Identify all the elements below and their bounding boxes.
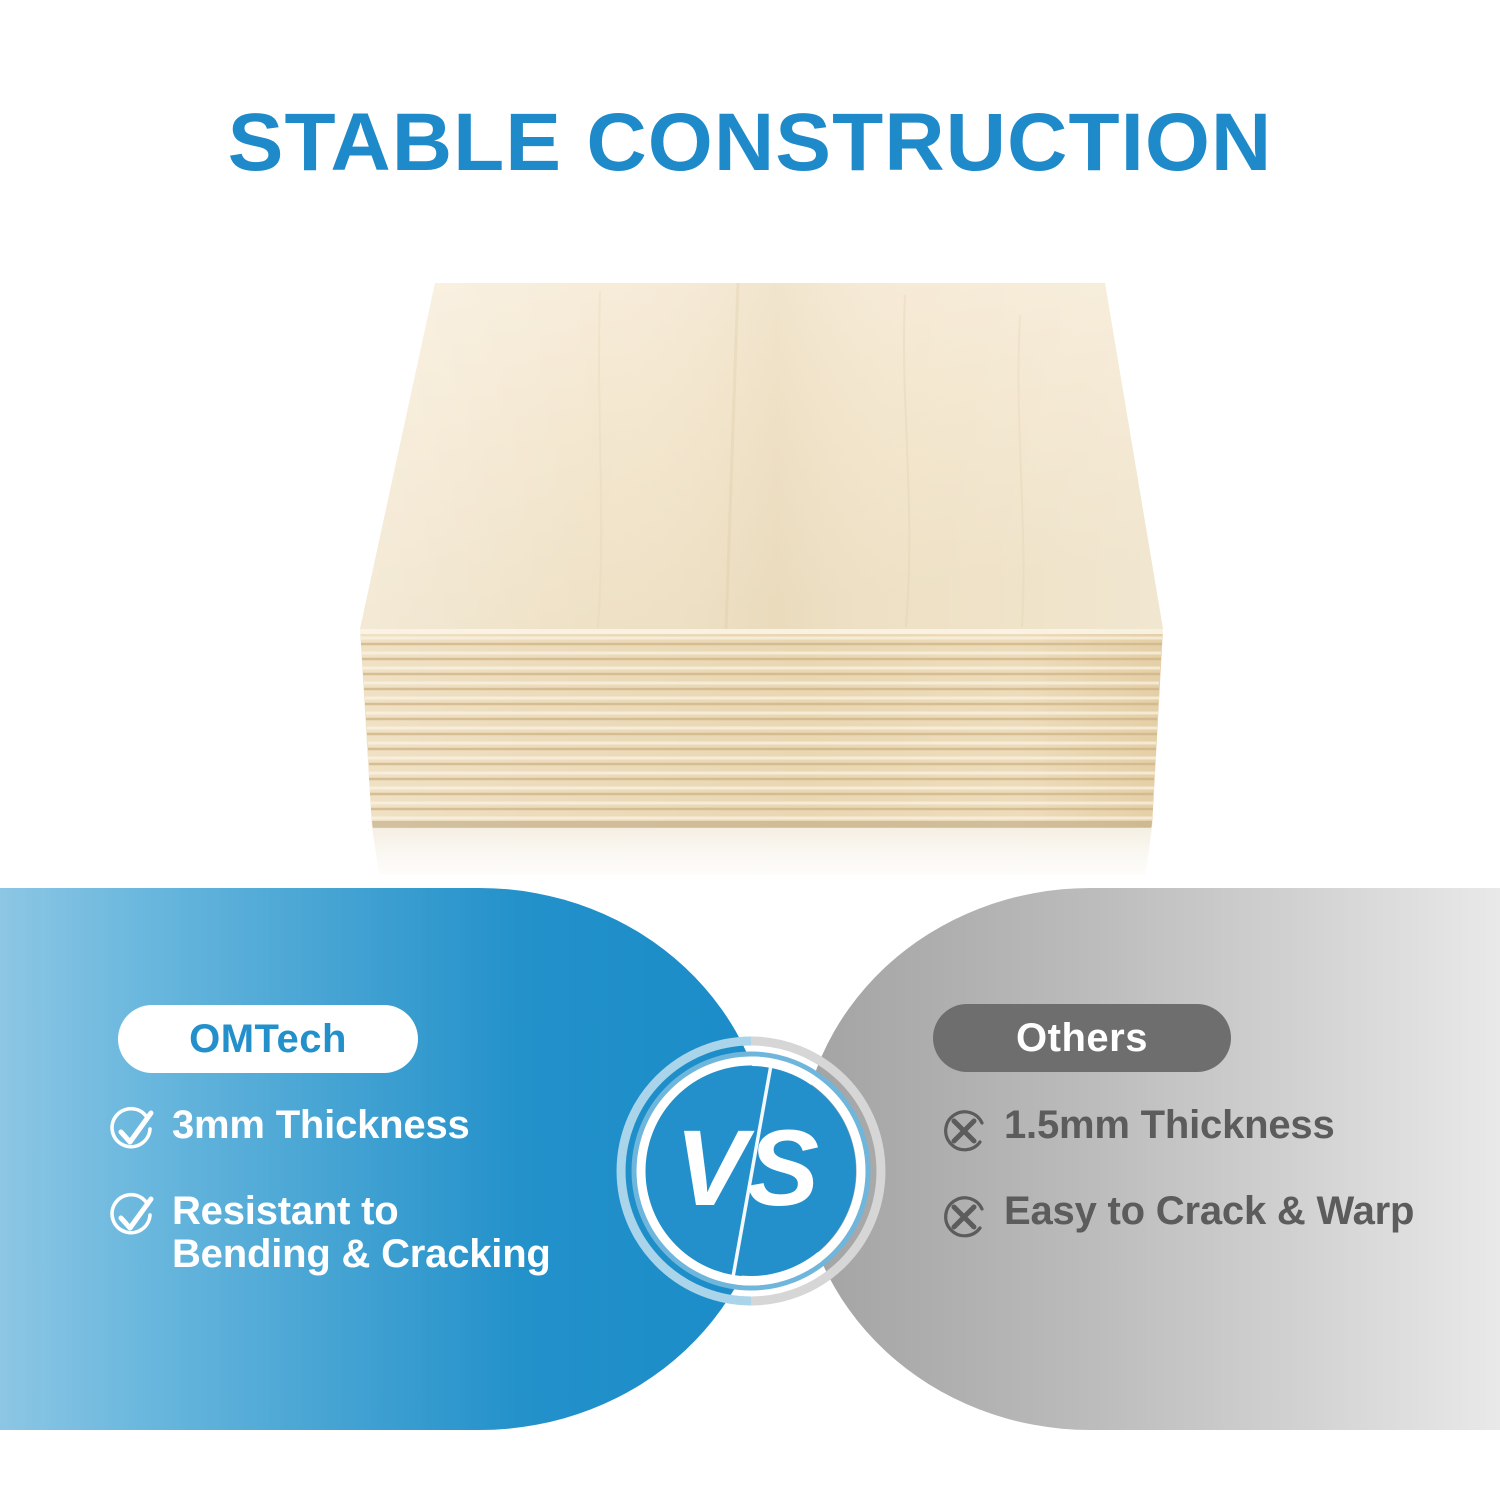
check-circle-icon [106,1106,158,1158]
feature-label: 3mm Thickness [172,1104,470,1147]
page-title: STABLE CONSTRUCTION [0,96,1500,190]
hero-product-image [0,255,1500,875]
others-feature-list: 1.5mm Thickness Easy to Crack & Warp [938,1104,1478,1276]
versus-badge-icon: VS [615,1035,887,1307]
feature-label: 1.5mm Thickness [1004,1104,1335,1147]
feature-label: Resistant toBending & Cracking [172,1190,551,1276]
versus-badge-label: VS [675,1107,819,1228]
x-circle-icon [938,1192,990,1244]
others-label-pill[interactable]: Others [933,1004,1231,1072]
list-item: 1.5mm Thickness [938,1104,1478,1158]
feature-label: Easy to Crack & Warp [1004,1190,1414,1233]
omtech-label-pill[interactable]: OMTech [118,1005,418,1073]
list-item: Easy to Crack & Warp [938,1190,1478,1244]
check-circle-icon [106,1192,158,1244]
list-item: 3mm Thickness [106,1104,666,1158]
x-circle-icon [938,1106,990,1158]
list-item: Resistant toBending & Cracking [106,1190,666,1276]
omtech-feature-list: 3mm Thickness Resistant toBending & Crac… [106,1104,666,1308]
